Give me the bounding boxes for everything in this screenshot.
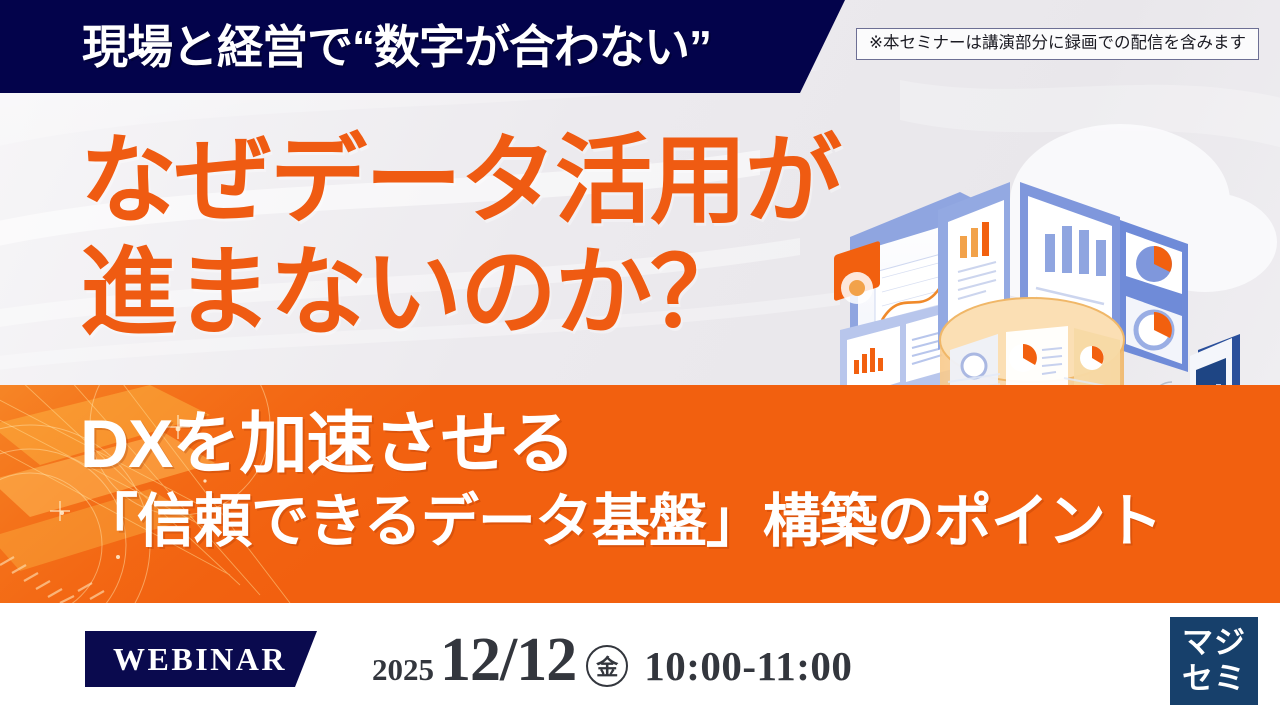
event-month-day: 12/12	[440, 629, 576, 691]
event-year: 2025	[372, 652, 434, 688]
footer-bar: WEBINAR 2025 12/12 金 10:00-11:00 マジ セミ	[0, 603, 1280, 720]
event-time: 10:00-11:00	[644, 642, 852, 690]
webinar-badge: WEBINAR	[85, 631, 317, 687]
header-title: 現場と経営で“数字が合わない”	[82, 24, 711, 70]
headline-line-2: 進まないのか？	[80, 237, 840, 349]
webinar-badge-label: WEBINAR	[85, 643, 287, 675]
logo-line-1: マジ	[1182, 625, 1246, 661]
logo-line-2: セミ	[1182, 661, 1246, 697]
webinar-banner: 現場と経営で“数字が合わない” ※本セミナーは講演部分に録画での配信を含みます	[0, 0, 1280, 720]
orange-subtitle-band: DXを加速させる 「信頼できるデータ基盤」構築のポイント	[0, 385, 1280, 603]
event-day-of-week: 金	[586, 645, 628, 687]
majisemi-logo[interactable]: マジ セミ	[1170, 617, 1258, 705]
band-line-1: DXを加速させる	[80, 403, 1162, 485]
headline-line-1: なぜデータ活用が	[80, 125, 840, 237]
band-line-2: 「信頼できるデータ基盤」構築のポイント	[80, 485, 1162, 559]
page-title: なぜデータ活用が 進まないのか？	[80, 125, 840, 349]
band-subtitle: DXを加速させる 「信頼できるデータ基盤」構築のポイント	[80, 403, 1162, 559]
recording-notice: ※本セミナーは講演部分に録画での配信を含みます	[856, 28, 1259, 60]
event-datetime: 2025 12/12 金 10:00-11:00	[372, 629, 852, 691]
header-ribbon: 現場と経営で“数字が合わない”	[0, 0, 845, 93]
